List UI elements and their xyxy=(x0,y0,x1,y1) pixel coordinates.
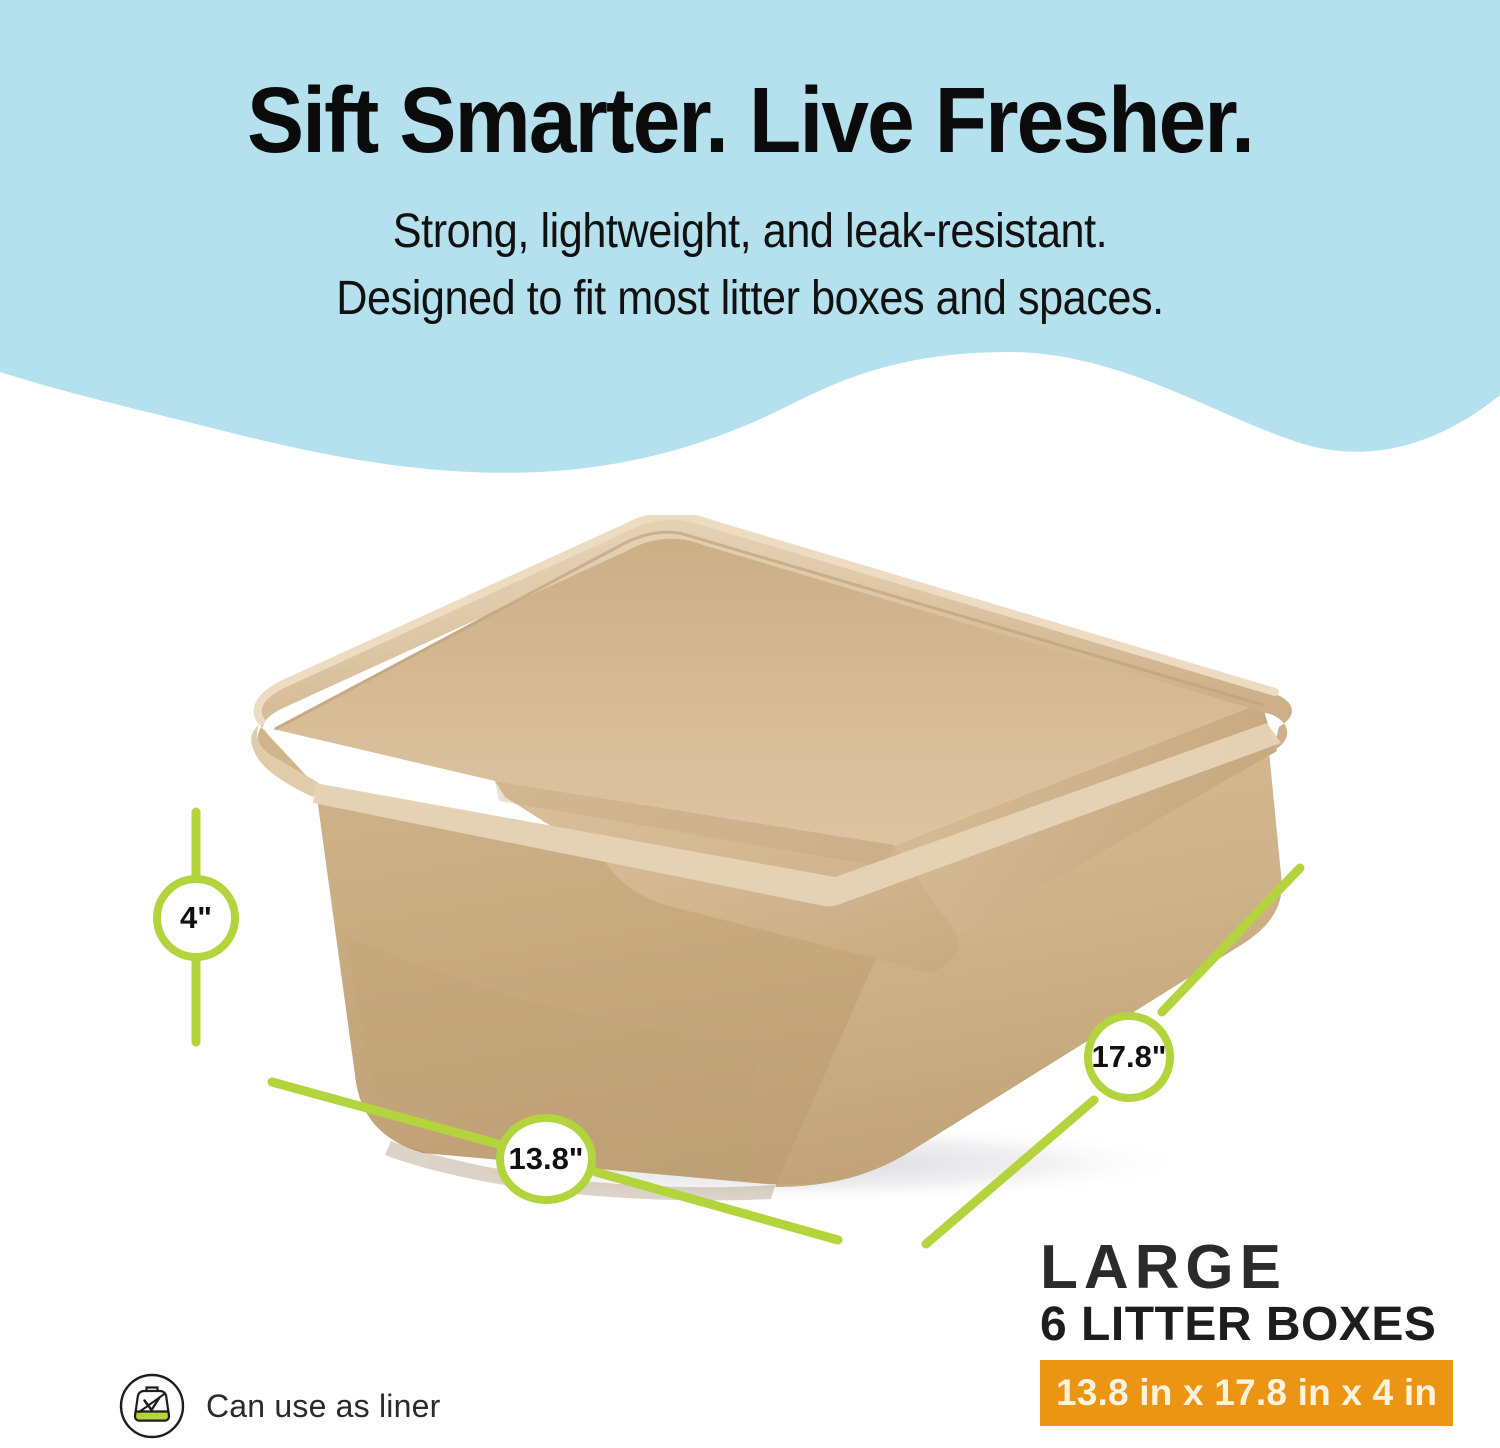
litter-box-liner-icon xyxy=(118,1372,186,1440)
feature-label: Can use as liner xyxy=(206,1388,440,1425)
subtitle-line-2: Designed to fit most litter boxes and sp… xyxy=(75,275,1425,323)
size-name: LARGE xyxy=(1040,1238,1460,1299)
litter-box-product-image xyxy=(195,515,1355,1215)
measurements-badge: 13.8 in x 17.8 in x 4 in xyxy=(1040,1360,1453,1426)
dimension-width-label: 13.8" xyxy=(508,1141,583,1177)
dimension-height-label: 4" xyxy=(180,900,212,936)
size-info-block: LARGE 6 LITTER BOXES 13.8 in x 17.8 in x… xyxy=(1040,1238,1460,1426)
page-title: Sift Smarter. Live Fresher. xyxy=(60,74,1440,167)
feature-badge: Can use as liner xyxy=(118,1372,440,1440)
pack-quantity: 6 LITTER BOXES xyxy=(1040,1301,1460,1350)
dimension-depth-label: 17.8" xyxy=(1091,1039,1166,1075)
subtitle-line-1: Strong, lightweight, and leak-resistant. xyxy=(75,208,1425,256)
product-infographic: Sift Smarter. Live Fresher. Strong, ligh… xyxy=(0,0,1500,1448)
